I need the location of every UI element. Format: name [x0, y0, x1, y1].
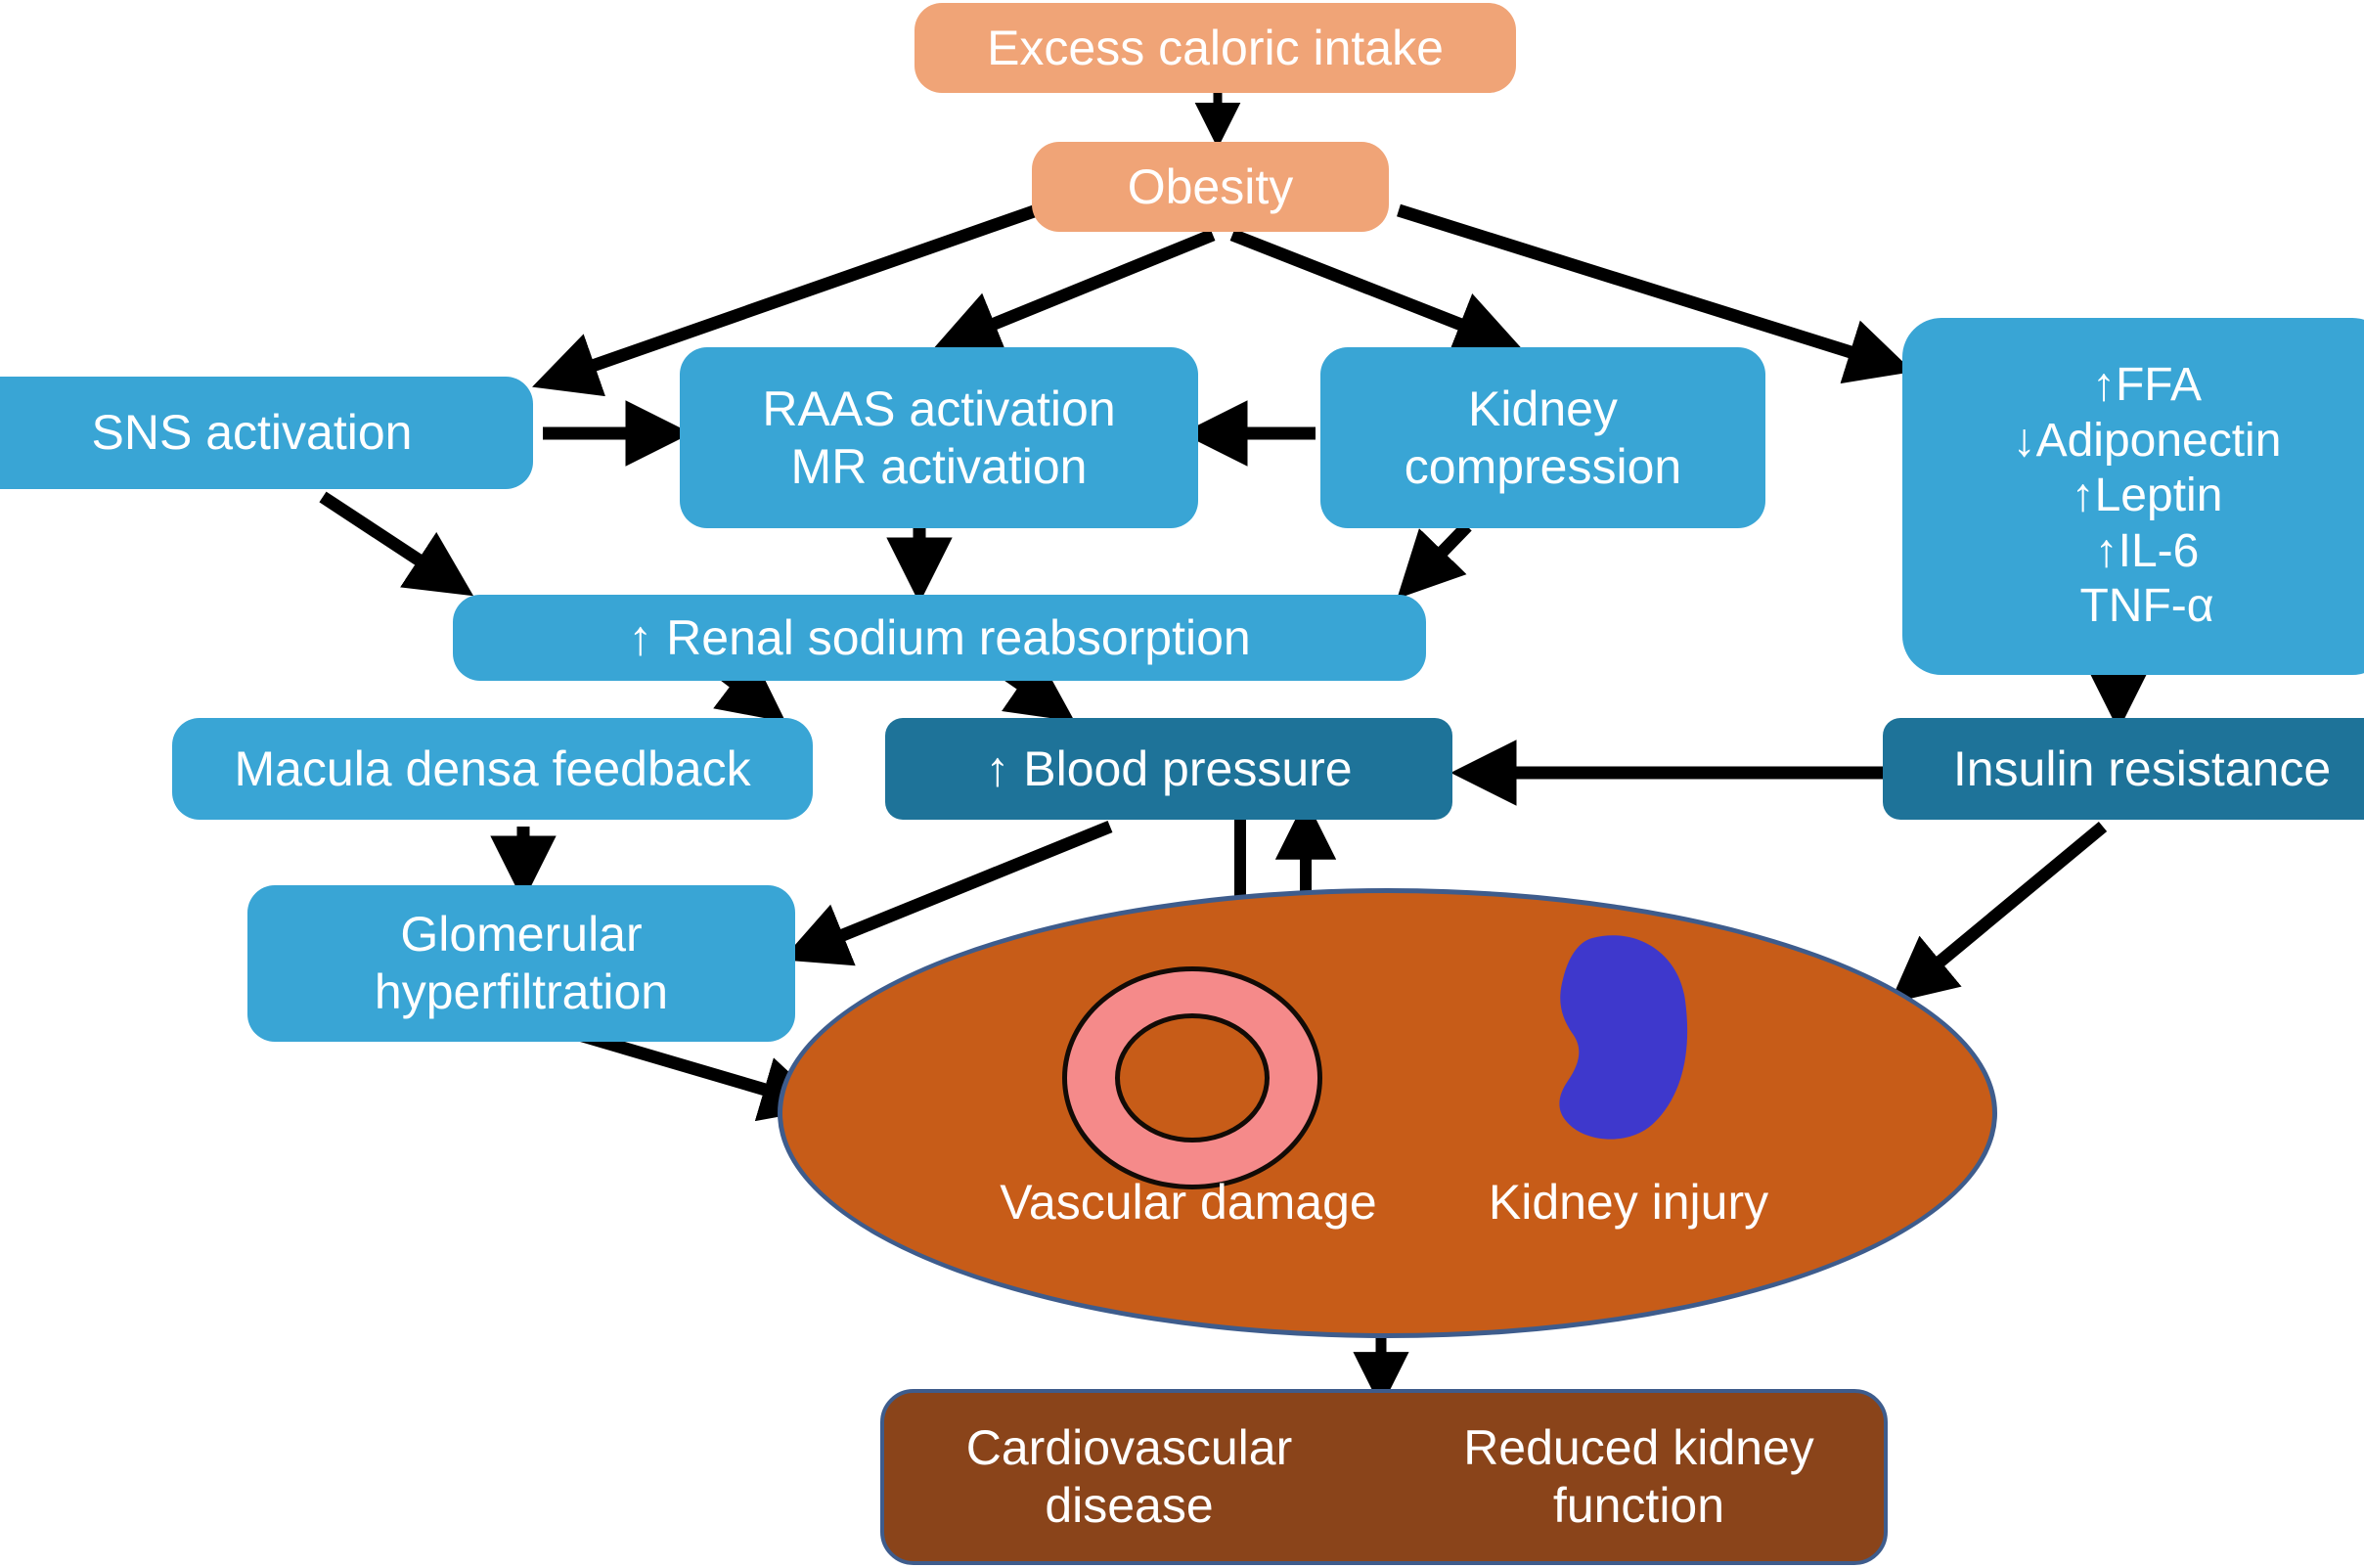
outcome-line1: Reduced kidney	[1418, 1419, 1859, 1477]
node-raas-mr-activation[interactable]: RAAS activation MR activation	[680, 347, 1198, 528]
node-label-line1: Kidney	[1330, 381, 1756, 438]
node-label: Insulin resistance	[1893, 740, 2364, 798]
arrow-kidneycomp-to-renal-sodium	[1408, 526, 1467, 587]
outcome-line2: function	[1418, 1477, 1859, 1535]
node-label-line1: Glomerular	[257, 906, 785, 963]
organ-damage-ellipse	[778, 888, 1997, 1338]
arrow-insulin-to-ellipse	[1902, 827, 2103, 993]
node-adipokines[interactable]: ↑FFA ↓Adiponectin ↑Leptin ↑IL-6 TNF-α	[1902, 318, 2364, 675]
node-outcomes[interactable]: Cardiovascular disease Reduced kidney fu…	[880, 1389, 1888, 1565]
node-label: ↑ Renal sodium reabsorption	[463, 609, 1416, 667]
outcome-line2: disease	[909, 1477, 1350, 1535]
arrow-obesity-to-kidney-compression	[1232, 235, 1506, 342]
label-text: Vascular damage	[1000, 1175, 1376, 1230]
adipokine-tnfa: TNF-α	[1912, 579, 2364, 635]
kidney-injury-label: Kidney injury	[1457, 1174, 1800, 1231]
node-label: Excess caloric intake	[924, 20, 1506, 77]
blood-vessel-lumen-icon	[1115, 1013, 1270, 1142]
adipokine-leptin: ↑Leptin	[1912, 469, 2364, 524]
outcome-line1: Cardiovascular	[909, 1419, 1350, 1477]
outcome-cardiovascular-disease: Cardiovascular disease	[909, 1419, 1350, 1535]
adipokine-il6: ↑IL-6	[1912, 524, 2364, 580]
node-label: SNS activation	[0, 404, 523, 462]
adipokine-ffa: ↑FFA	[1912, 358, 2364, 414]
node-label-line2: MR activation	[690, 438, 1188, 496]
node-label: Obesity	[1042, 158, 1379, 216]
node-kidney-compression[interactable]: Kidney compression	[1320, 347, 1765, 528]
node-label-line1: RAAS activation	[690, 381, 1188, 438]
node-renal-sodium-reabsorption[interactable]: ↑ Renal sodium reabsorption	[453, 595, 1426, 681]
node-insulin-resistance[interactable]: Insulin resistance	[1883, 718, 2364, 820]
node-glomerular-hyperfiltration[interactable]: Glomerular hyperfiltration	[247, 885, 795, 1042]
outcome-reduced-kidney-function: Reduced kidney function	[1418, 1419, 1859, 1535]
diagram-canvas: Excess caloric intake Obesity SNS activa…	[0, 0, 2364, 1568]
node-blood-pressure[interactable]: ↑ Blood pressure	[885, 718, 1452, 820]
arrow-sns-to-renal-sodium	[323, 497, 460, 587]
kidney-icon	[1536, 932, 1702, 1142]
node-label: Macula densa feedback	[182, 740, 803, 798]
arrow-obesity-to-raas	[949, 235, 1213, 342]
node-label-line2: compression	[1330, 438, 1756, 496]
node-label: ↑ Blood pressure	[895, 740, 1443, 798]
adipokine-adiponectin: ↓Adiponectin	[1912, 414, 2364, 470]
node-label-line2: hyperfiltration	[257, 963, 785, 1021]
label-text: Kidney injury	[1489, 1175, 1768, 1230]
node-sns-activation[interactable]: SNS activation	[0, 377, 533, 489]
node-obesity[interactable]: Obesity	[1032, 142, 1389, 232]
node-excess-caloric-intake[interactable]: Excess caloric intake	[914, 3, 1516, 93]
vascular-damage-label: Vascular damage	[978, 1174, 1399, 1231]
arrow-obesity-to-cytokines	[1399, 210, 1897, 367]
node-macula-densa-feedback[interactable]: Macula densa feedback	[172, 718, 813, 820]
